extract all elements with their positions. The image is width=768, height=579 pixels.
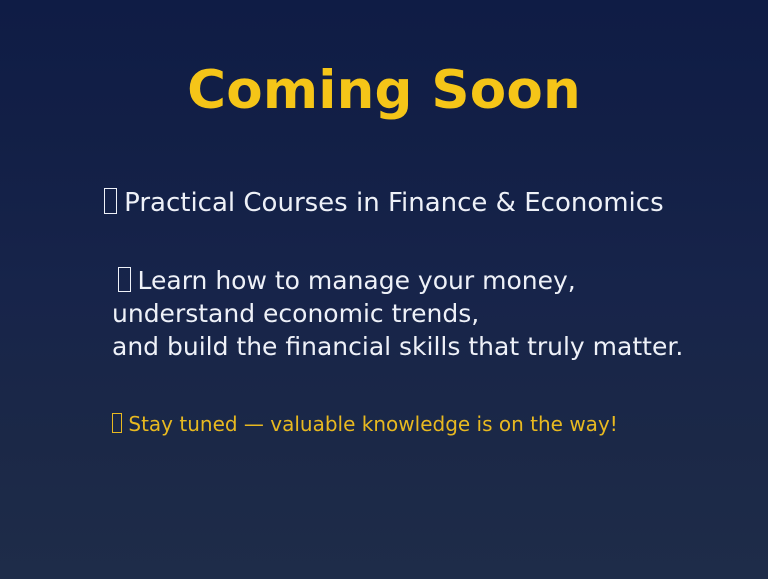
footer-note: Stay tuned — valuable knowledge is on th… [112,412,752,437]
missing-glyph-box-icon [104,188,117,214]
body-line-3: and build the financial skills that trul… [112,330,752,363]
footer-container: Stay tuned — valuable knowledge is on th… [112,412,752,437]
body-line-1-text: Learn how to manage your money, [138,266,576,295]
subtitle-container: Practical Courses in Finance & Economics [0,188,768,219]
title-container: Coming Soon [0,62,768,119]
footer-note-text: Stay tuned — valuable knowledge is on th… [128,412,617,436]
body-line-2: understand economic trends, [112,297,752,330]
coming-soon-slide: Coming Soon Practical Courses in Finance… [0,0,768,579]
page-title: Coming Soon [187,62,581,119]
missing-glyph-box-icon [118,267,131,292]
body-line-1: Learn how to manage your money, [112,264,752,297]
missing-glyph-box-icon [112,413,122,433]
body-text-block: Learn how to manage your money, understa… [112,264,752,363]
subtitle-text: Practical Courses in Finance & Economics [124,188,664,218]
subtitle-line: Practical Courses in Finance & Economics [104,188,663,219]
